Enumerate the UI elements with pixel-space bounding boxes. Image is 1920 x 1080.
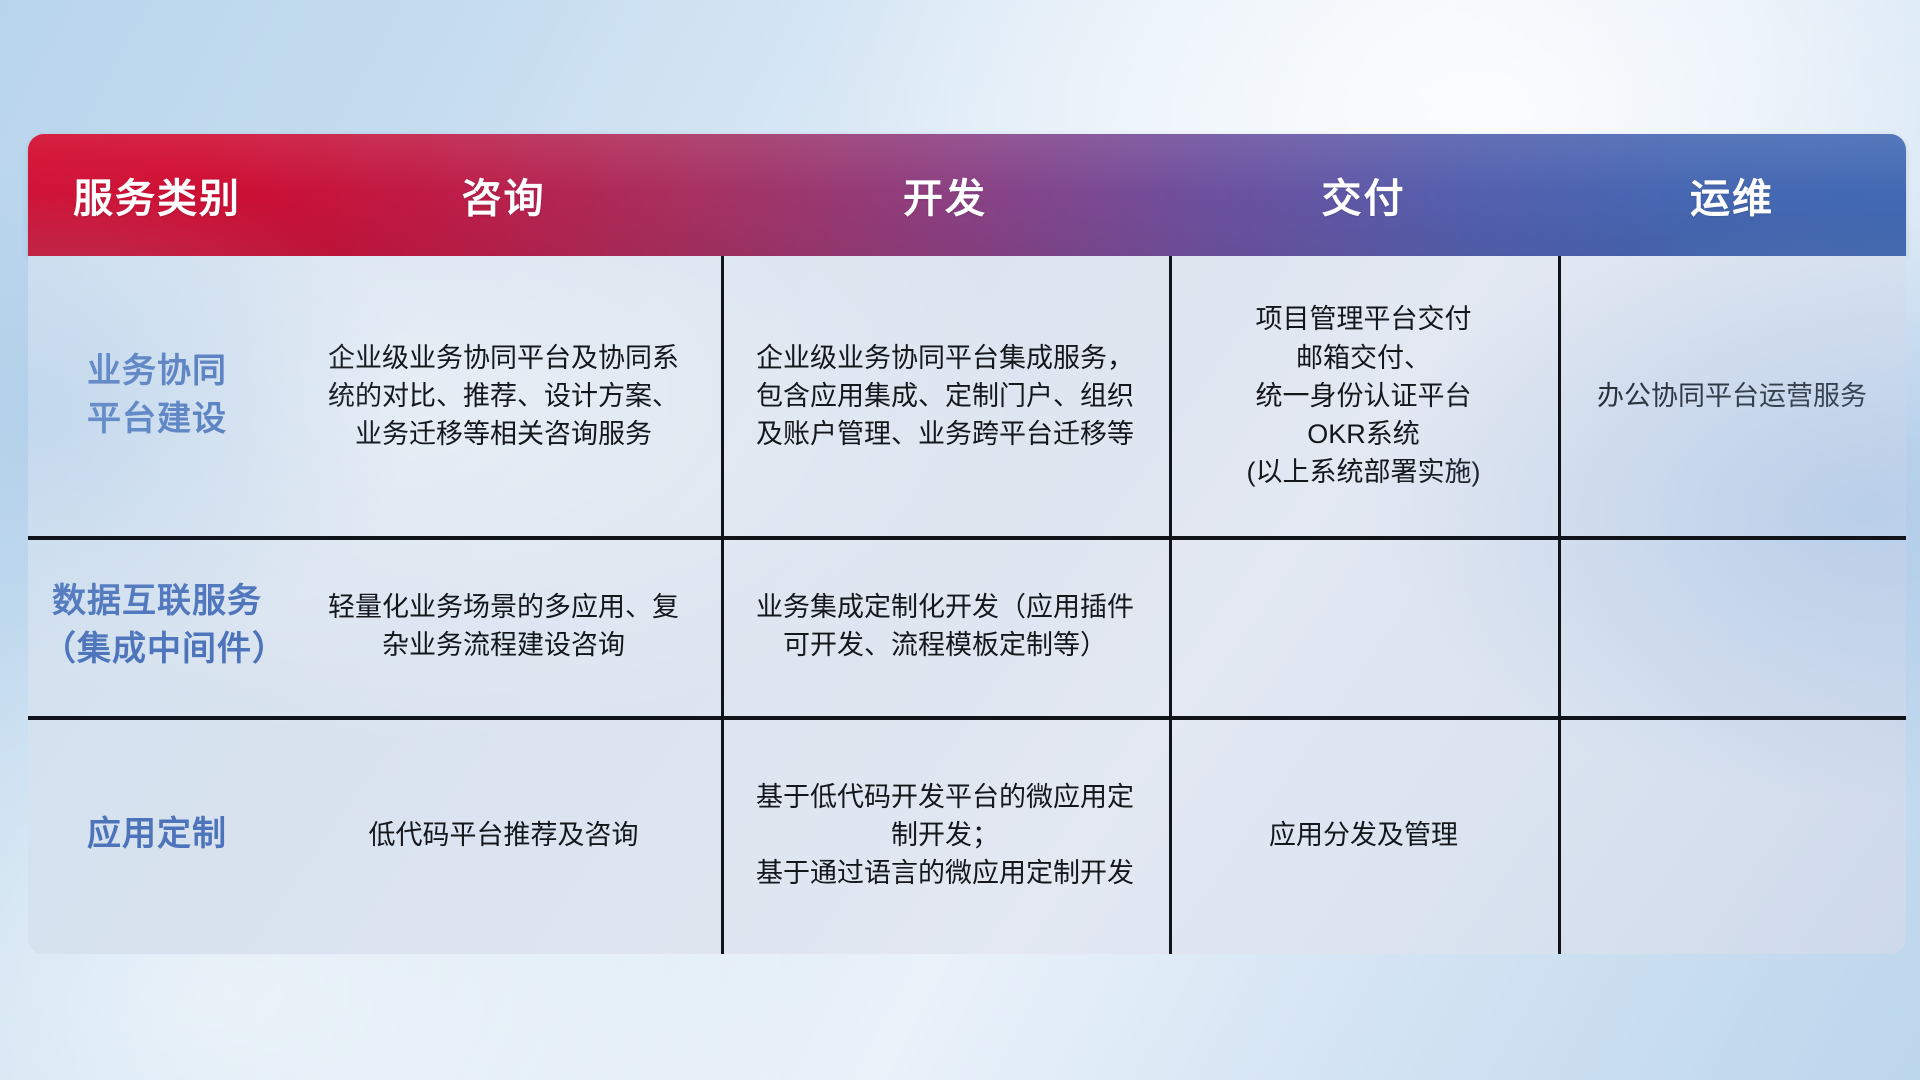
table-header-row: 服务类别 咨询 开发 交付 运维	[28, 134, 1906, 256]
page-background: 服务类别 咨询 开发 交付 运维 业务协同 平台建设 企业级业务协同平台及协同系…	[0, 0, 1920, 1080]
cell-delivery: 项目管理平台交付 邮箱交付、 统一身份认证平台 OKR系统 (以上系统部署实施)	[1169, 256, 1558, 536]
cell-delivery: 应用分发及管理	[1169, 716, 1558, 954]
row-category-label: 数据互联服务 （集成中间件）	[28, 536, 286, 716]
cell-development: 业务集成定制化开发（应用插件 可开发、流程模板定制等）	[721, 536, 1169, 716]
cell-operations	[1558, 536, 1906, 716]
cell-operations: 办公协同平台运营服务	[1558, 256, 1906, 536]
table-row: 数据互联服务 （集成中间件） 轻量化业务场景的多应用、复 杂业务流程建设咨询 业…	[28, 536, 1906, 716]
column-header-service-category: 服务类别	[28, 166, 286, 224]
cell-consulting: 企业级业务协同平台及协同系 统的对比、推荐、设计方案、 业务迁移等相关咨询服务	[286, 256, 721, 536]
column-divider-1	[721, 256, 724, 954]
row-divider-2	[28, 716, 1906, 720]
column-header-operations: 运维	[1558, 166, 1906, 224]
cell-delivery	[1169, 536, 1558, 716]
column-divider-2	[1169, 256, 1172, 954]
table-body: 业务协同 平台建设 企业级业务协同平台及协同系 统的对比、推荐、设计方案、 业务…	[28, 256, 1906, 954]
cell-development: 企业级业务协同平台集成服务， 包含应用集成、定制门户、组织 及账户管理、业务跨平…	[721, 256, 1169, 536]
table-row: 业务协同 平台建设 企业级业务协同平台及协同系 统的对比、推荐、设计方案、 业务…	[28, 256, 1906, 536]
column-header-development: 开发	[721, 166, 1169, 224]
column-header-delivery: 交付	[1169, 166, 1558, 224]
row-divider-1	[28, 536, 1906, 540]
cell-consulting: 低代码平台推荐及咨询	[286, 716, 721, 954]
table-row: 应用定制 低代码平台推荐及咨询 基于低代码开发平台的微应用定 制开发； 基于通过…	[28, 716, 1906, 954]
row-category-label: 应用定制	[28, 716, 286, 954]
column-divider-3	[1558, 256, 1561, 954]
cell-consulting: 轻量化业务场景的多应用、复 杂业务流程建设咨询	[286, 536, 721, 716]
cell-operations	[1558, 716, 1906, 954]
cell-development: 基于低代码开发平台的微应用定 制开发； 基于通过语言的微应用定制开发	[721, 716, 1169, 954]
row-category-label: 业务协同 平台建设	[28, 256, 286, 536]
column-header-consulting: 咨询	[286, 166, 721, 224]
service-matrix-table: 服务类别 咨询 开发 交付 运维 业务协同 平台建设 企业级业务协同平台及协同系…	[28, 134, 1906, 954]
